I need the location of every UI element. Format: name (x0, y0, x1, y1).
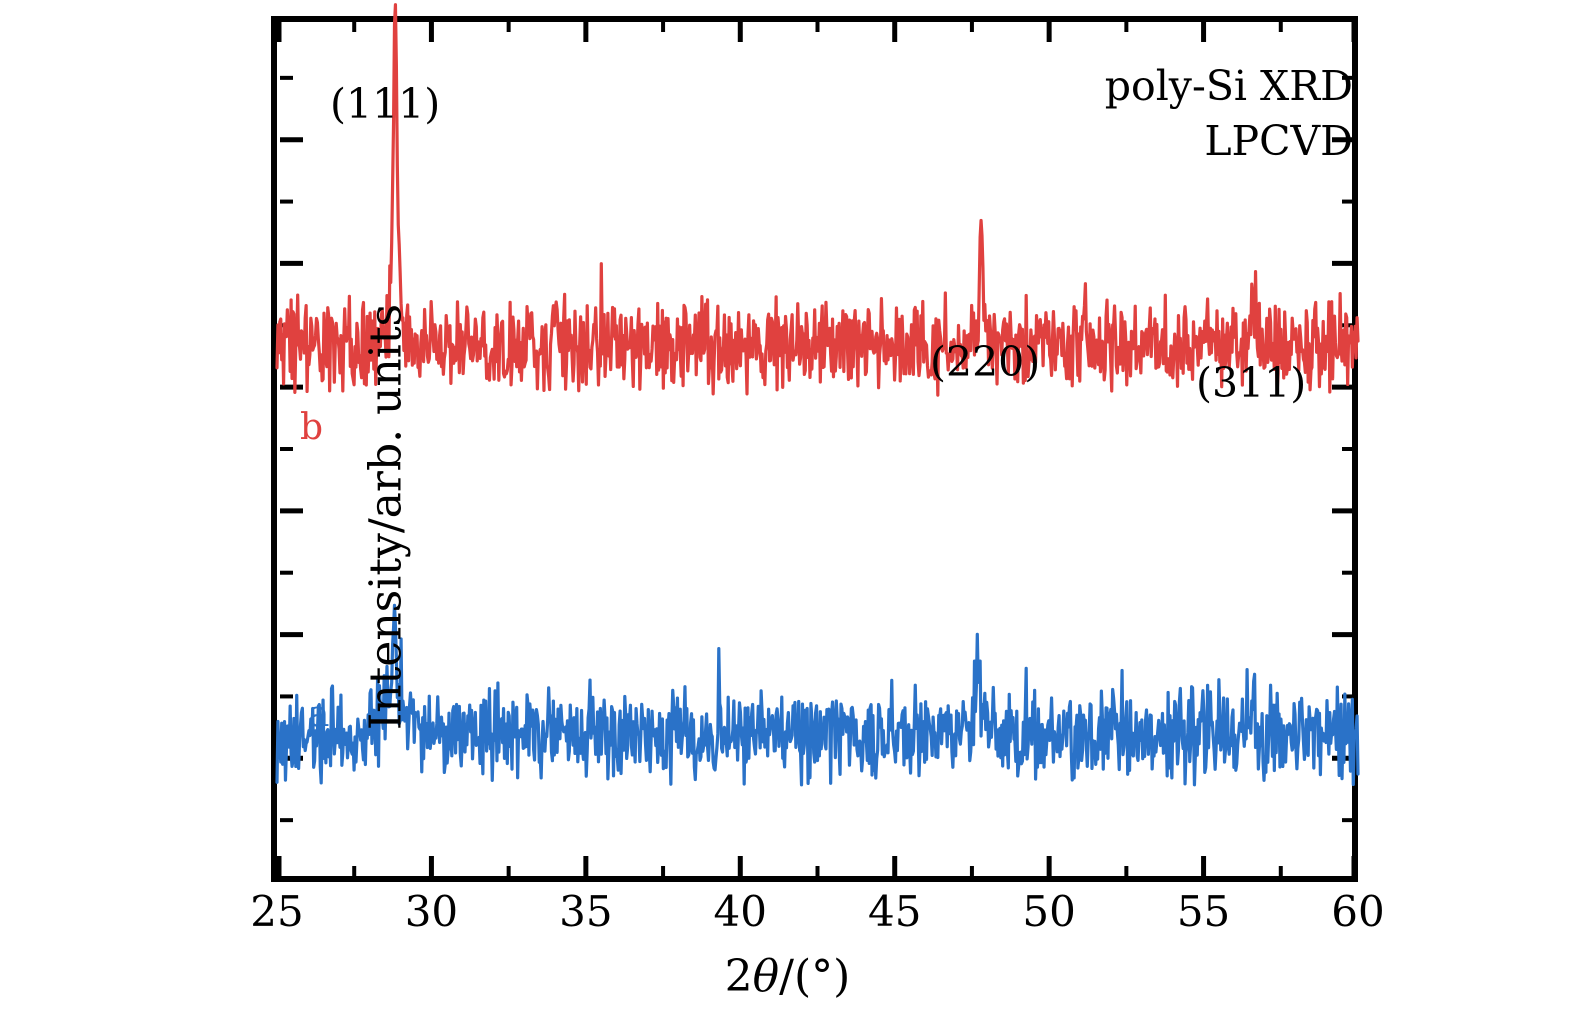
x-axis-title: 2θ/(°) (725, 951, 851, 1002)
peak-label-311: (311) (1196, 359, 1306, 407)
x-tick-label-35: 35 (559, 887, 612, 936)
x-tick-label-25: 25 (250, 887, 303, 936)
peak-label-111: (111) (330, 80, 440, 128)
y-axis-title: Intensity/arb. units (361, 303, 412, 729)
peak-label-220: (220) (930, 338, 1040, 386)
x-tick-label-55: 55 (1177, 887, 1230, 936)
xrd-figure: poly-Si XRD LPCVD (111) (220) (311) b a … (0, 0, 1575, 1033)
series-label-a: a (308, 694, 329, 735)
x-tick-label-50: 50 (1022, 887, 1075, 936)
series-label-b: b (300, 407, 323, 448)
annotation-method: LPCVD (1204, 117, 1353, 165)
x-tick-label-30: 30 (405, 887, 458, 936)
x-tick-label-45: 45 (868, 887, 921, 936)
x-tick-label-40: 40 (714, 887, 767, 936)
x-axis-title-prefix: 2 (725, 951, 753, 1002)
x-axis-title-suffix: /(°) (779, 951, 850, 1002)
x-tick-label-60: 60 (1331, 887, 1384, 936)
annotation-sample-title: poly-Si XRD (1105, 62, 1353, 110)
x-axis-title-theta: θ (753, 951, 780, 1002)
